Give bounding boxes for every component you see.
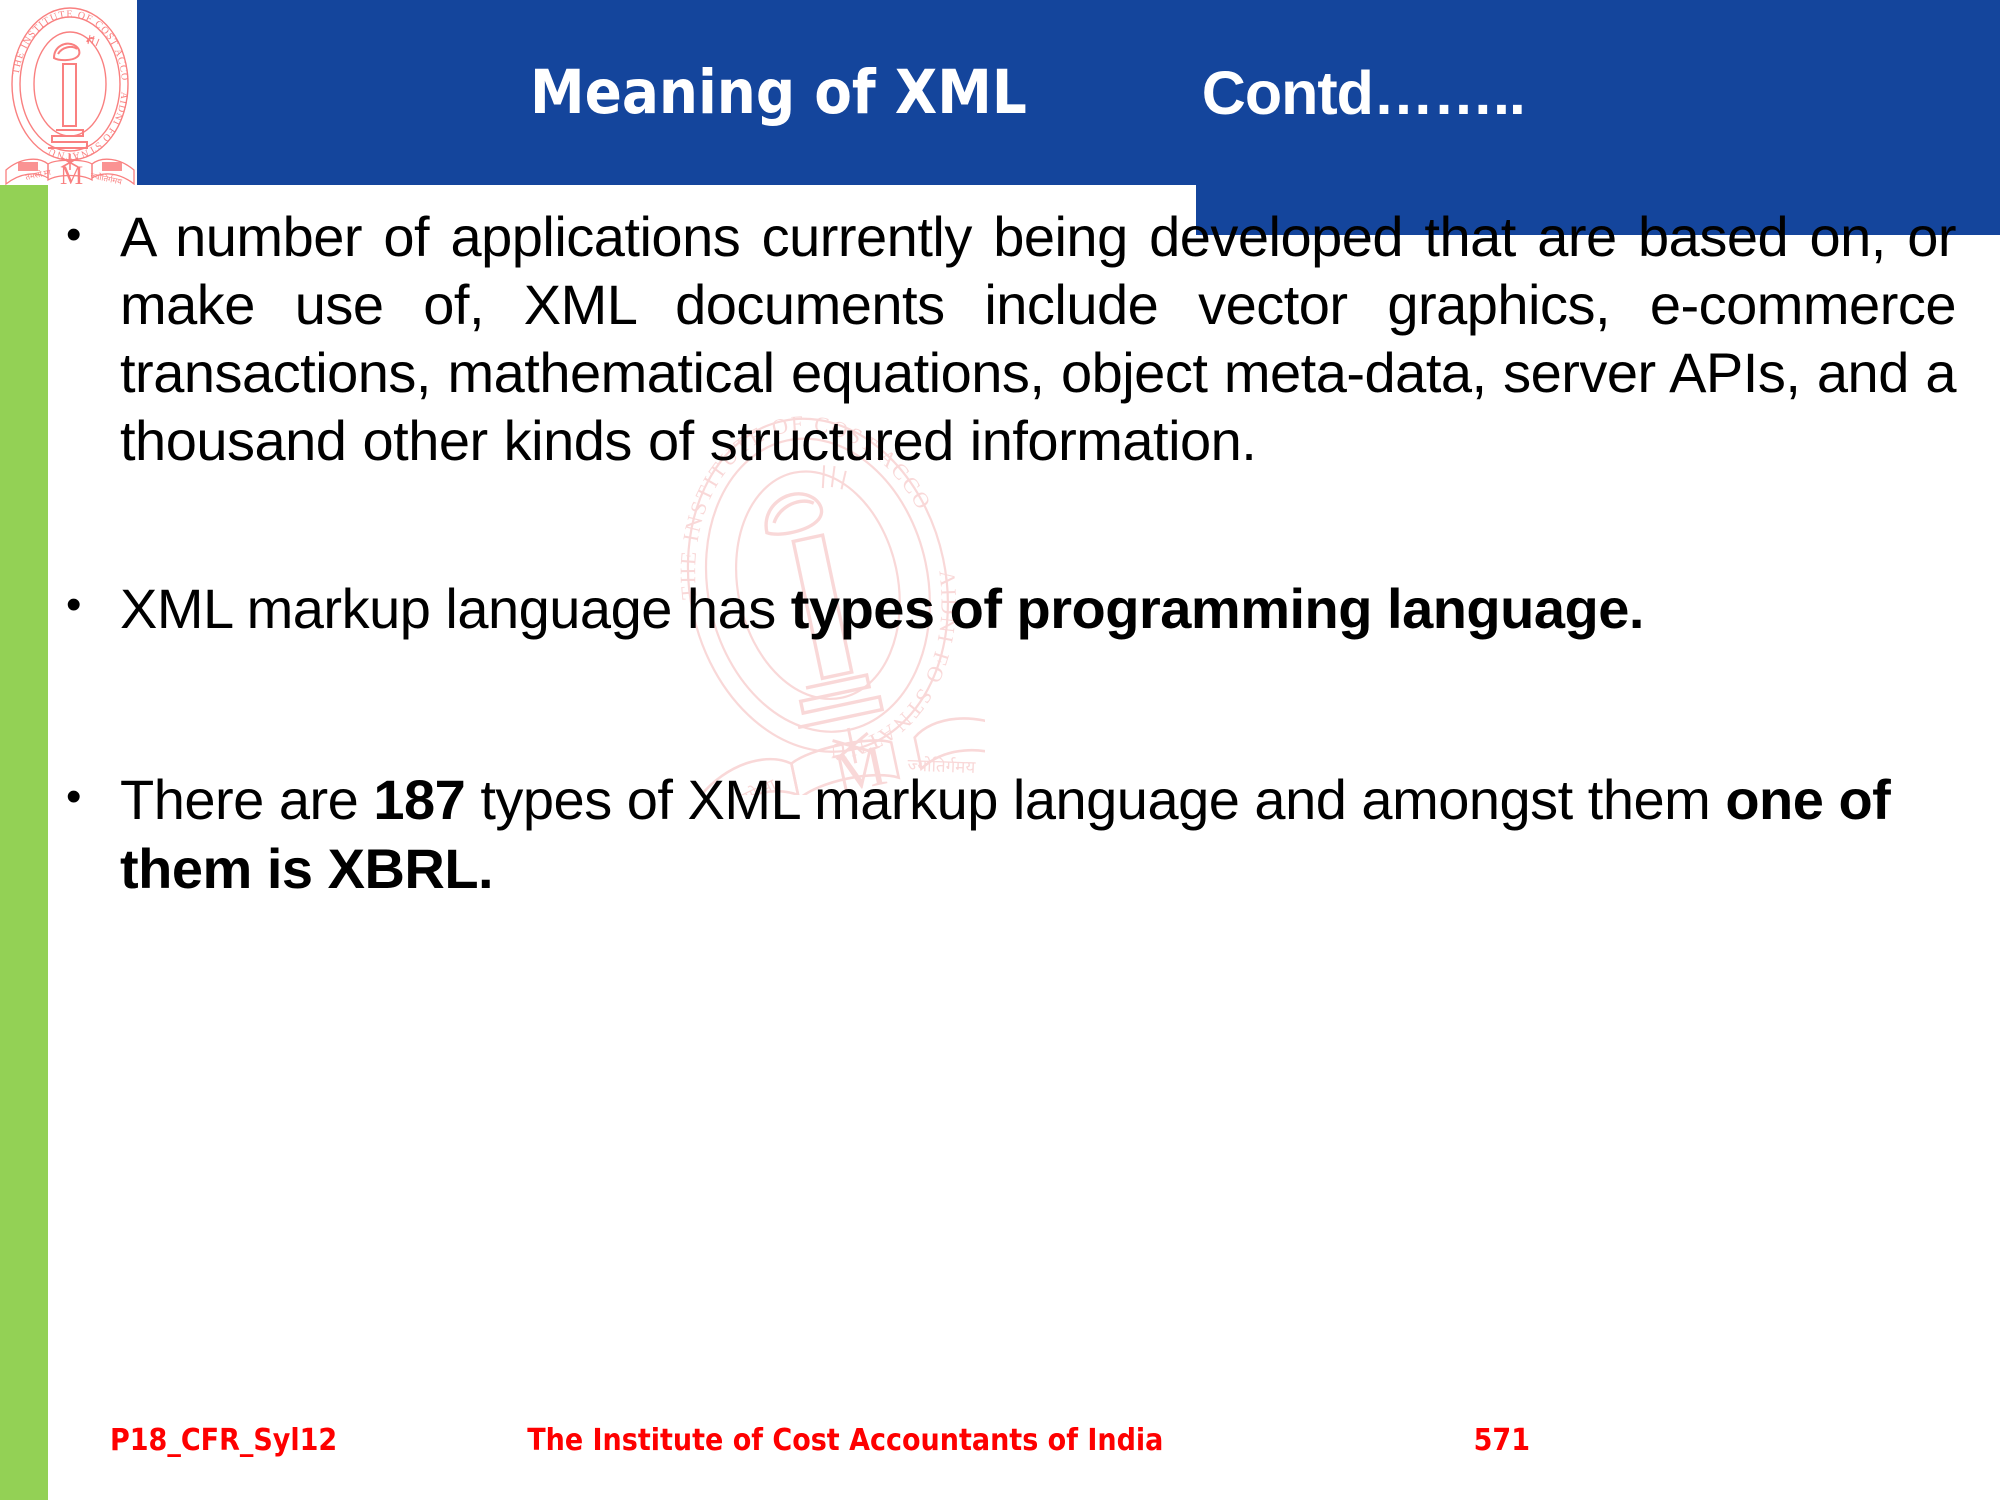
bullet-marker-icon: • [48, 765, 120, 829]
bullet-3-text: There are 187 types of XML markup langua… [120, 765, 2000, 904]
bullet-1-text: A number of applications currently being… [120, 203, 2000, 475]
bullet-3-run-1: 187 [373, 768, 465, 831]
slide-body: • A number of applications currently bei… [48, 185, 2000, 1425]
bullet-marker-icon: • [48, 203, 120, 267]
svg-text:M: M [60, 161, 83, 185]
slide-canvas: Meaning of XML Contd…….. THE INSTITUTE O… [0, 0, 2000, 1500]
bullet-3-run-2: types of XML markup language and amongst… [465, 768, 1725, 831]
svg-text:ज्योतिर्गमय: ज्योतिर्गमय [90, 170, 124, 185]
slide-footer: P18_CFR_Syl12 The Institute of Cost Acco… [48, 1405, 2000, 1475]
title-continuation-label: Contd…….. [1202, 58, 1525, 128]
left-green-accent-bar [0, 185, 48, 1500]
svg-text:THE INSTITUTE OF COST ACCO: THE INSTITUTE OF COST ACCO [11, 9, 130, 82]
page-title: Meaning of XML [530, 57, 1027, 128]
list-item: • There are 187 types of XML markup lang… [48, 765, 2000, 904]
footer-syllabus-code: P18_CFR_Syl12 [110, 1423, 337, 1458]
slide-title-row: Meaning of XML Contd…….. [137, 0, 2000, 185]
list-item: • XML markup language has types of progr… [48, 573, 2000, 645]
footer-institute-name: The Institute of Cost Accountants of Ind… [527, 1423, 1163, 1458]
bullet-marker-icon: • [48, 573, 120, 637]
svg-text:AIDNI FO STNATNU: AIDNI FO STNATNU [46, 91, 130, 161]
bullet-1-run-0: A number of applications currently being… [120, 205, 1956, 472]
bullet-2-text: XML markup language has types of program… [120, 573, 2000, 645]
footer-page-number: 571 [1474, 1423, 1530, 1458]
icai-logo: THE INSTITUTE OF COST ACCO AIDNI FO STNA… [4, 2, 136, 185]
bullet-2-run-1: types of programming language. [791, 577, 1644, 640]
bullet-2-run-0: XML markup language has [120, 577, 791, 640]
bullet-3-run-0: There are [120, 768, 373, 831]
list-item: • A number of applications currently bei… [48, 203, 2000, 475]
